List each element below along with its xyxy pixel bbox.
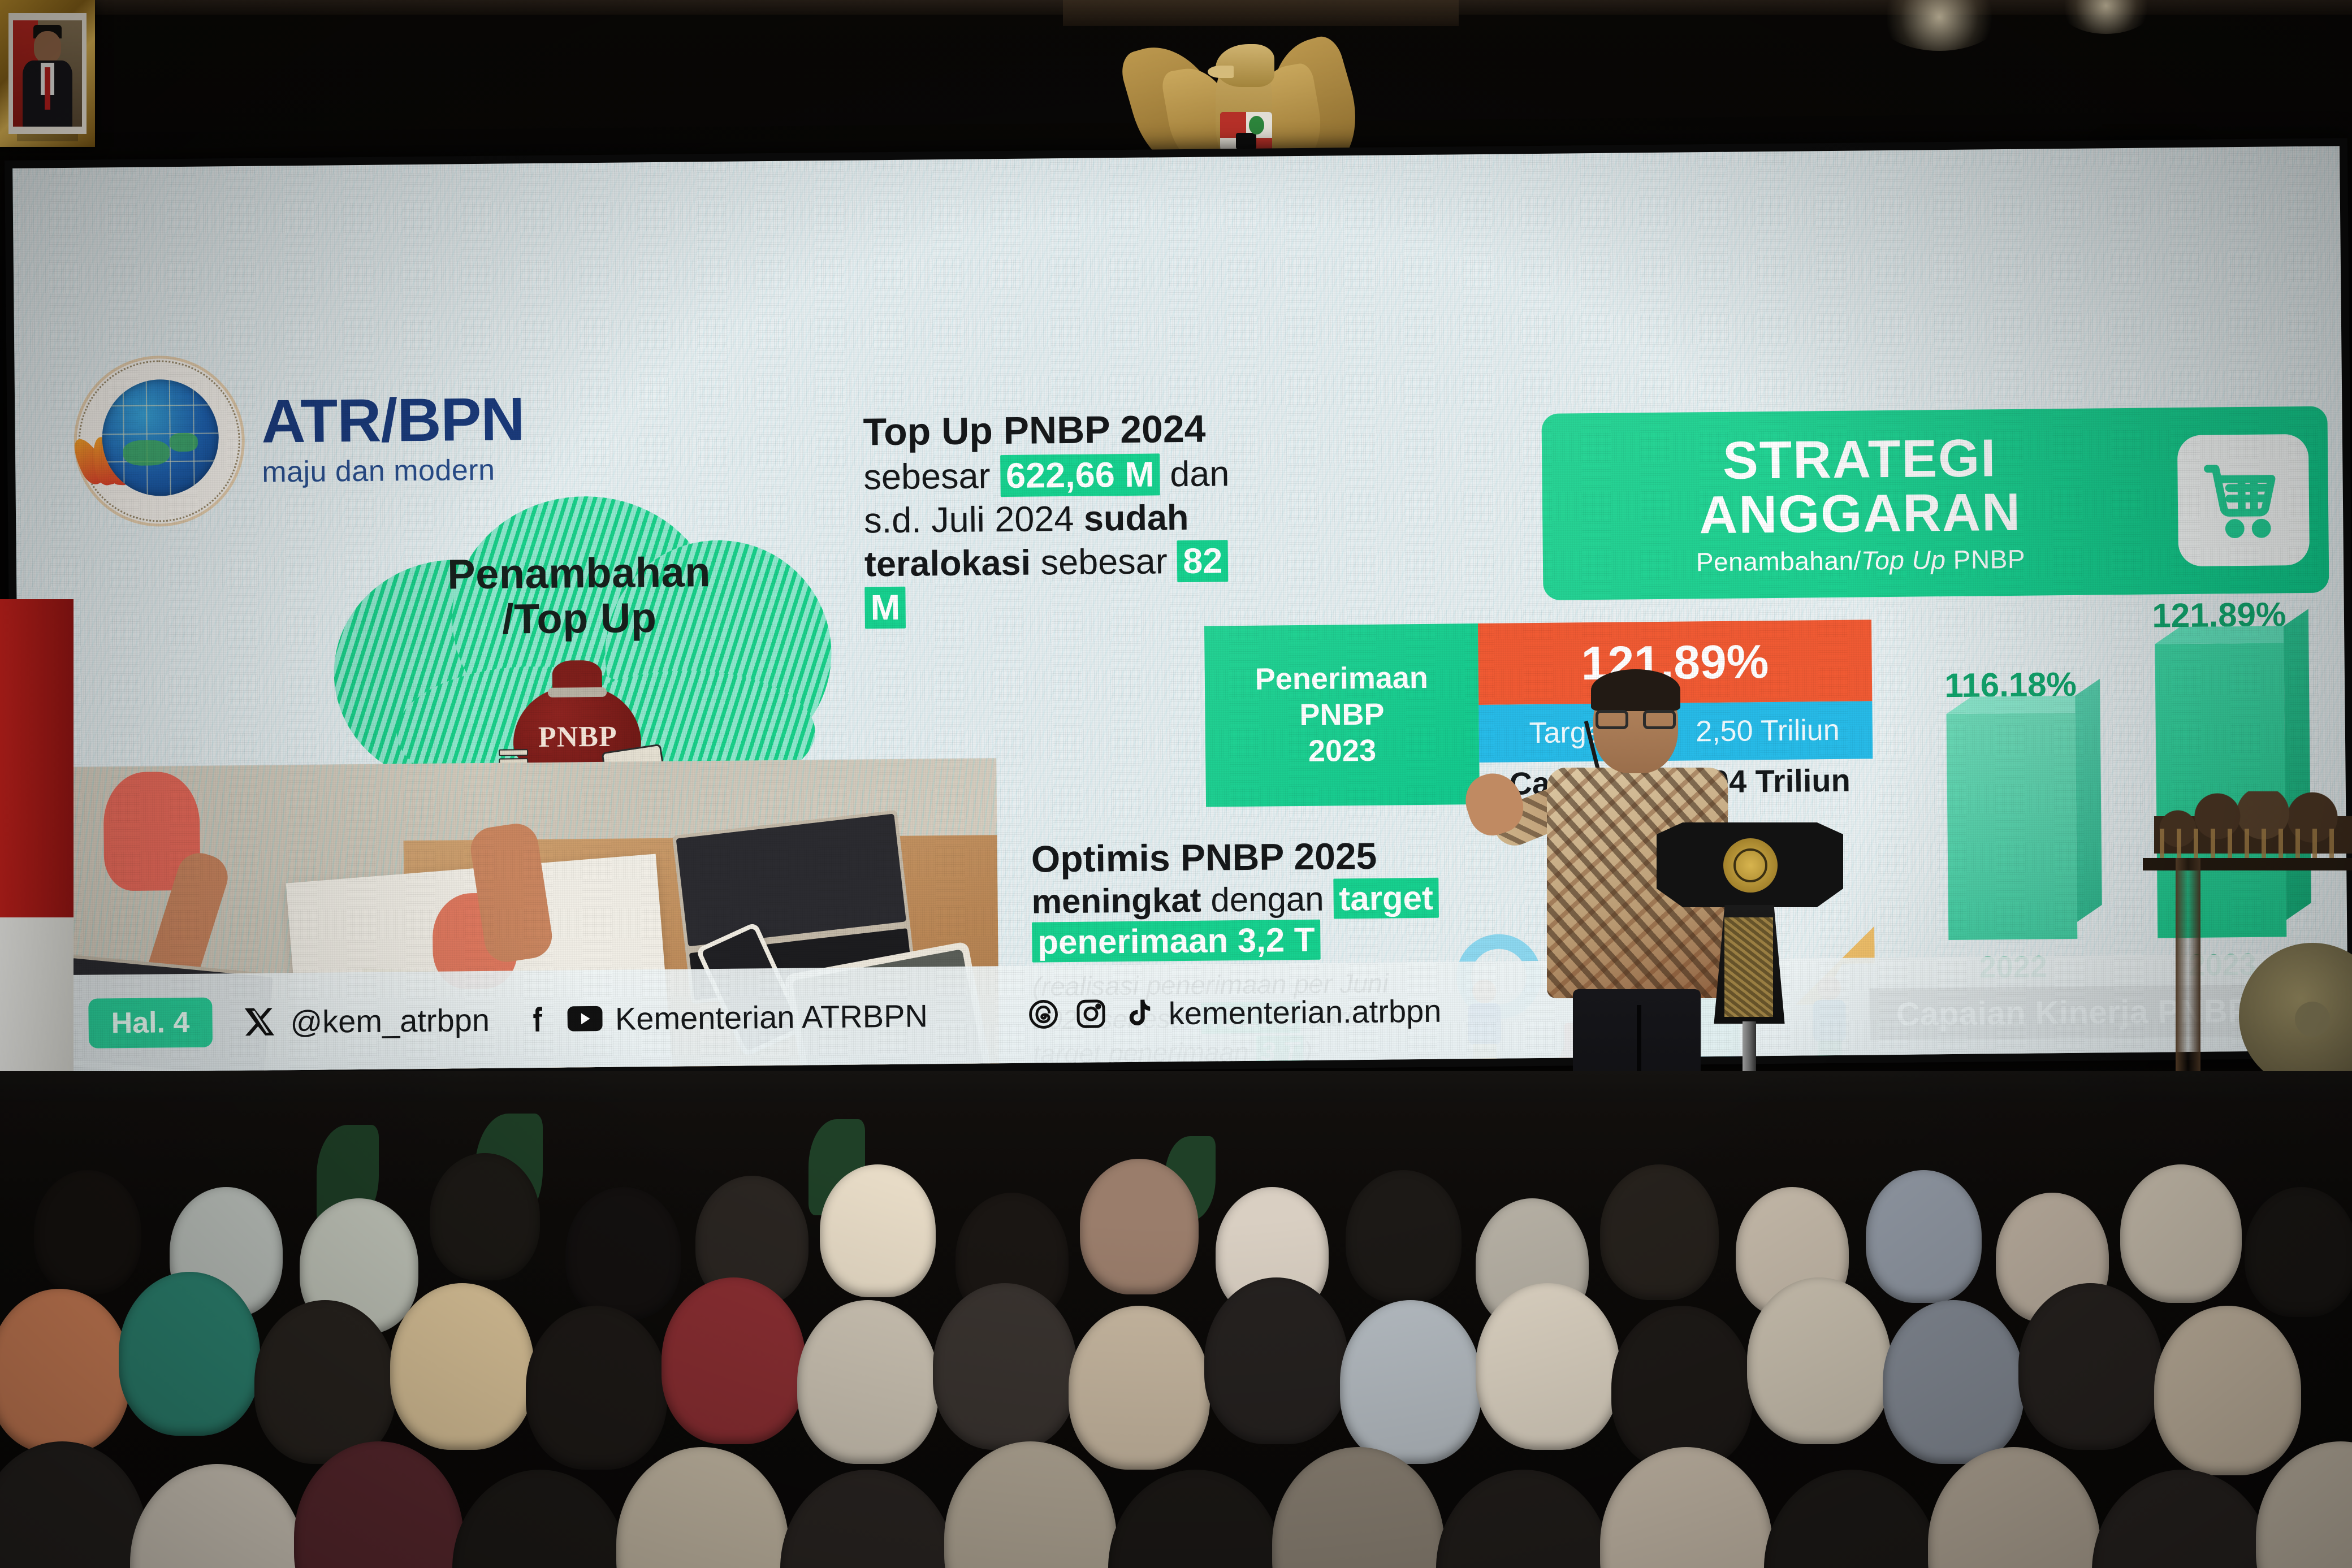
audience-head xyxy=(933,1283,1077,1450)
x-social-group[interactable]: @kem_atrbpn xyxy=(243,1001,490,1040)
strategy-subtitle-c: PNBP xyxy=(1945,544,2025,574)
strategy-subtitle-a: Penambahan/ xyxy=(1696,545,1861,577)
audience-head xyxy=(797,1300,939,1464)
threads-ig-tiktok-group[interactable]: kementerian.atrbpn xyxy=(1026,992,1442,1033)
audience-head xyxy=(1600,1447,1772,1568)
social-handle: kementerian.atrbpn xyxy=(1169,992,1442,1032)
audience-head xyxy=(2092,1470,2273,1568)
cloud-line-1: Penambahan xyxy=(310,548,848,599)
strategi-anggaran-card: STRATEGI ANGGARAN Penambahan/Top Up PNBP xyxy=(1541,406,2329,600)
audience-head xyxy=(780,1470,955,1568)
seated-audience xyxy=(0,1102,2352,1568)
audience-head xyxy=(1747,1277,1891,1444)
strategy-subtitle: Penambahan/Top Up PNBP xyxy=(1543,542,2178,579)
president-portrait xyxy=(0,0,95,147)
audience-head xyxy=(820,1164,936,1297)
audience-head xyxy=(1204,1277,1348,1444)
top-up-text-4: sebesar xyxy=(1040,542,1168,582)
optimis-text-1: dengan xyxy=(1210,880,1324,919)
tiktok-icon[interactable] xyxy=(1121,996,1157,1032)
table-row-label: Penerimaan PNBP 2023 xyxy=(1204,623,1480,807)
audience-head xyxy=(1883,1300,2024,1464)
audience-head xyxy=(1611,1306,1753,1470)
audience-head xyxy=(1069,1306,1210,1470)
cloud-line-2: /Top Up xyxy=(310,594,848,644)
top-up-highlight-3: M xyxy=(864,586,906,629)
audience-head xyxy=(1272,1447,1445,1568)
led-screen: ATR/BPN maju dan modern Penambahan /Top … xyxy=(5,138,2352,1081)
event-photo-scene: ATR/BPN maju dan modern Penambahan /Top … xyxy=(0,0,2352,1568)
audience-head xyxy=(2120,1164,2242,1303)
audience-head xyxy=(1108,1470,1283,1568)
top-up-text-2: dan xyxy=(1170,454,1230,494)
thought-cloud: Penambahan /Top Up PNBP xyxy=(309,477,849,799)
audience-head xyxy=(616,1447,789,1568)
top-up-bold-1: sudah xyxy=(1084,498,1189,539)
audience-head xyxy=(565,1187,681,1320)
optimis-heading: Optimis PNBP 2025 xyxy=(1031,832,1541,882)
portrait-photo xyxy=(13,20,81,127)
audience-head xyxy=(2245,1187,2352,1317)
audience-head xyxy=(2018,1283,2163,1450)
audience-head xyxy=(1600,1164,1719,1300)
audience-head xyxy=(1340,1300,1481,1464)
table-label-line-1: Penerimaan xyxy=(1255,660,1428,698)
table-label-line-3: 2023 xyxy=(1256,733,1429,770)
audience-head xyxy=(526,1306,667,1470)
bar-group-2022: 116,18% 2022 xyxy=(1940,665,2084,985)
audience-head xyxy=(34,1170,141,1294)
optimis-highlight-1: target xyxy=(1333,878,1439,919)
audience-head xyxy=(1866,1170,1982,1303)
fb-yt-social-group[interactable]: Kementerian ATRBPN xyxy=(520,997,928,1038)
top-up-text-1: sebesar xyxy=(863,456,991,497)
top-up-copy-block: Top Up PNBP 2024 sebesar 622,66 M dan s.… xyxy=(863,404,1396,629)
atrbpn-emblem xyxy=(1723,838,1778,893)
page-badge: Hal. 4 xyxy=(88,998,213,1049)
top-up-text-3: s.d. Juli 2024 xyxy=(864,499,1074,541)
ceremonial-gong xyxy=(2143,791,2352,1091)
audience-head xyxy=(1928,1447,2100,1568)
presentation-slide: ATR/BPN maju dan modern Penambahan /Top … xyxy=(12,146,2348,1072)
bar-2022 xyxy=(1947,713,2078,940)
strategy-title-line-1: STRATEGI xyxy=(1542,429,2178,490)
audience-head xyxy=(944,1441,1117,1568)
optimis-bold-1: meningkat xyxy=(1031,881,1201,921)
audience-head xyxy=(1346,1170,1462,1303)
audience-head xyxy=(661,1277,806,1444)
indonesian-flag xyxy=(0,599,73,1097)
audience-head xyxy=(390,1283,534,1450)
optimis-highlight-2: penerimaan 3,2 T xyxy=(1032,920,1321,963)
table-label-line-2: PNBP xyxy=(1255,696,1429,734)
audience-head xyxy=(2154,1306,2301,1475)
x-twitter-icon[interactable] xyxy=(243,1004,278,1039)
audience-head xyxy=(130,1464,305,1568)
instagram-icon[interactable] xyxy=(1074,996,1109,1032)
audience-head xyxy=(254,1300,396,1464)
audience-head xyxy=(119,1272,260,1436)
facebook-icon[interactable] xyxy=(520,1002,556,1037)
strategy-title-line-2: ANGGARAN xyxy=(1542,483,2178,544)
x-handle: @kem_atrbpn xyxy=(290,1001,490,1039)
top-up-heading: Top Up PNBP 2024 xyxy=(863,404,1395,456)
audience-head xyxy=(1436,1470,1611,1568)
ceiling-spotlight xyxy=(2058,0,2154,34)
top-up-highlight-2: 82 xyxy=(1177,540,1229,582)
portrait-plaque xyxy=(17,134,78,141)
ceiling-spotlight xyxy=(1877,0,2001,51)
threads-icon[interactable] xyxy=(1026,997,1062,1032)
top-up-highlight-1: 622,66 M xyxy=(1000,453,1160,497)
fb-yt-name: Kementerian ATRBPN xyxy=(615,997,928,1037)
top-up-bold-2: teralokasi xyxy=(864,543,1031,584)
audience-head xyxy=(0,1441,147,1568)
audience-head xyxy=(1764,1470,1939,1568)
youtube-icon[interactable] xyxy=(568,1001,603,1037)
audience-head xyxy=(452,1470,628,1568)
atrbpn-globe-logo xyxy=(71,353,248,530)
audience-head xyxy=(1080,1159,1199,1294)
podium xyxy=(1657,822,1843,1088)
strategy-subtitle-b: Top Up xyxy=(1861,545,1946,575)
brand-name: ATR/BPN xyxy=(261,388,525,452)
portrait-mat xyxy=(8,13,87,133)
audience-head xyxy=(1476,1283,1620,1450)
shopping-cart-icon xyxy=(2177,434,2310,566)
audience-head xyxy=(0,1289,130,1453)
audience-head xyxy=(430,1153,540,1280)
